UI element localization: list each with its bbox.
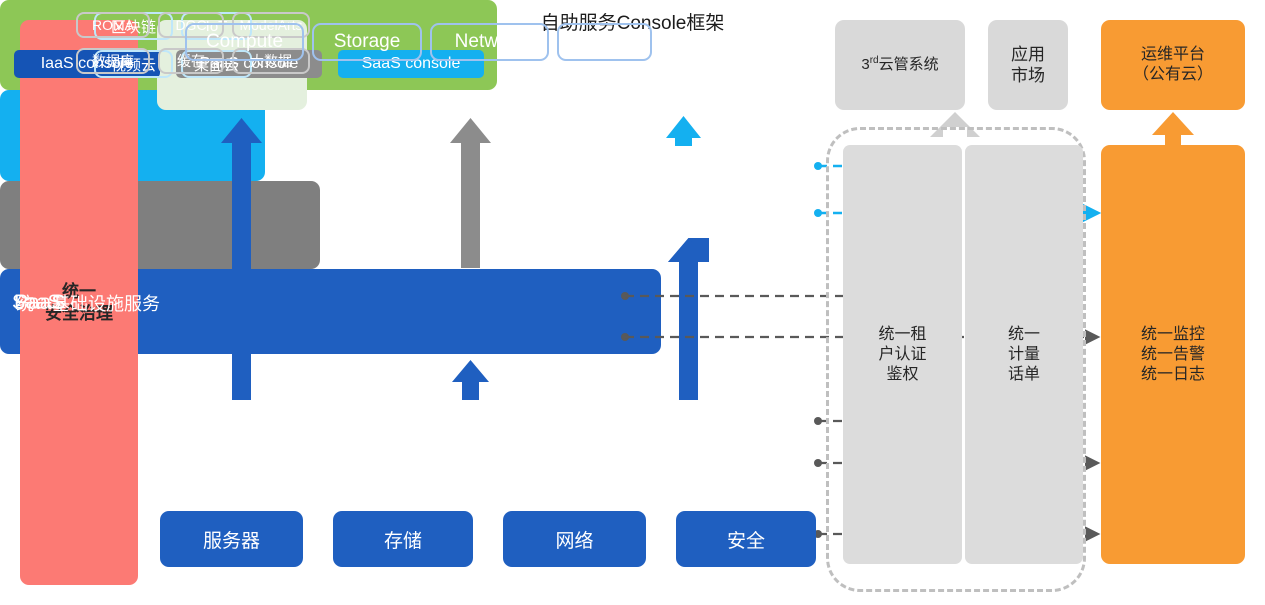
app-market-box[interactable]: 应用 市场 (988, 20, 1068, 110)
arrow-infra-to-saas (668, 238, 709, 400)
unified-tenant-auth-column[interactable]: 统一租 户认证 鉴权 (843, 145, 962, 564)
resource-server-box[interactable]: 服务器 (160, 511, 303, 567)
unified-metering-billing-column[interactable]: 统一 计量 话单 (965, 145, 1083, 564)
architecture-diagram: 统一 安全治理 API网关 自助服务Console框架 IaaS console… (0, 0, 1265, 605)
unified-infrastructure-label: 统一基础设施服务 (16, 290, 160, 316)
arrow-paas-to-console (450, 118, 491, 268)
arrow-ops-panel-to-ops-top (1152, 112, 1194, 145)
unified-monitoring-panel[interactable]: 统一监控 统一告警 统一日志 (1101, 145, 1245, 564)
unified-monitoring-label: 统一监控 统一告警 统一日志 (1141, 325, 1205, 385)
infra-service-network[interactable]: Network (430, 23, 549, 61)
infra-service-compute[interactable]: Compute (185, 23, 304, 61)
third-party-cloud-mgmt-box[interactable]: 3rd云管系统 (835, 20, 965, 110)
paas-service-roma[interactable]: ROMA (76, 12, 150, 38)
unified-metering-billing-label: 统一 计量 话单 (1008, 325, 1040, 385)
arrow-saas-to-console (666, 116, 701, 146)
arrow-infra-to-paas (452, 360, 489, 400)
infra-service-cce[interactable]: CCE (557, 23, 652, 61)
ops-platform-public-cloud-box[interactable]: 运维平台 （公有云） (1101, 20, 1245, 110)
app-market-label: 应用 市场 (1011, 44, 1045, 87)
paas-service-database[interactable]: 数据库 (76, 48, 150, 74)
resource-network-box[interactable]: 网络 (503, 511, 646, 567)
resource-security-box[interactable]: 安全 (676, 511, 816, 567)
unified-tenant-auth-label: 统一租 户认证 鉴权 (878, 325, 926, 385)
third-party-label: 3rd云管系统 (861, 55, 938, 75)
infra-service-storage[interactable]: Storage (312, 23, 422, 61)
resource-storage-box[interactable]: 存储 (333, 511, 473, 567)
ops-platform-label: 运维平台 （公有云） (1133, 45, 1213, 85)
